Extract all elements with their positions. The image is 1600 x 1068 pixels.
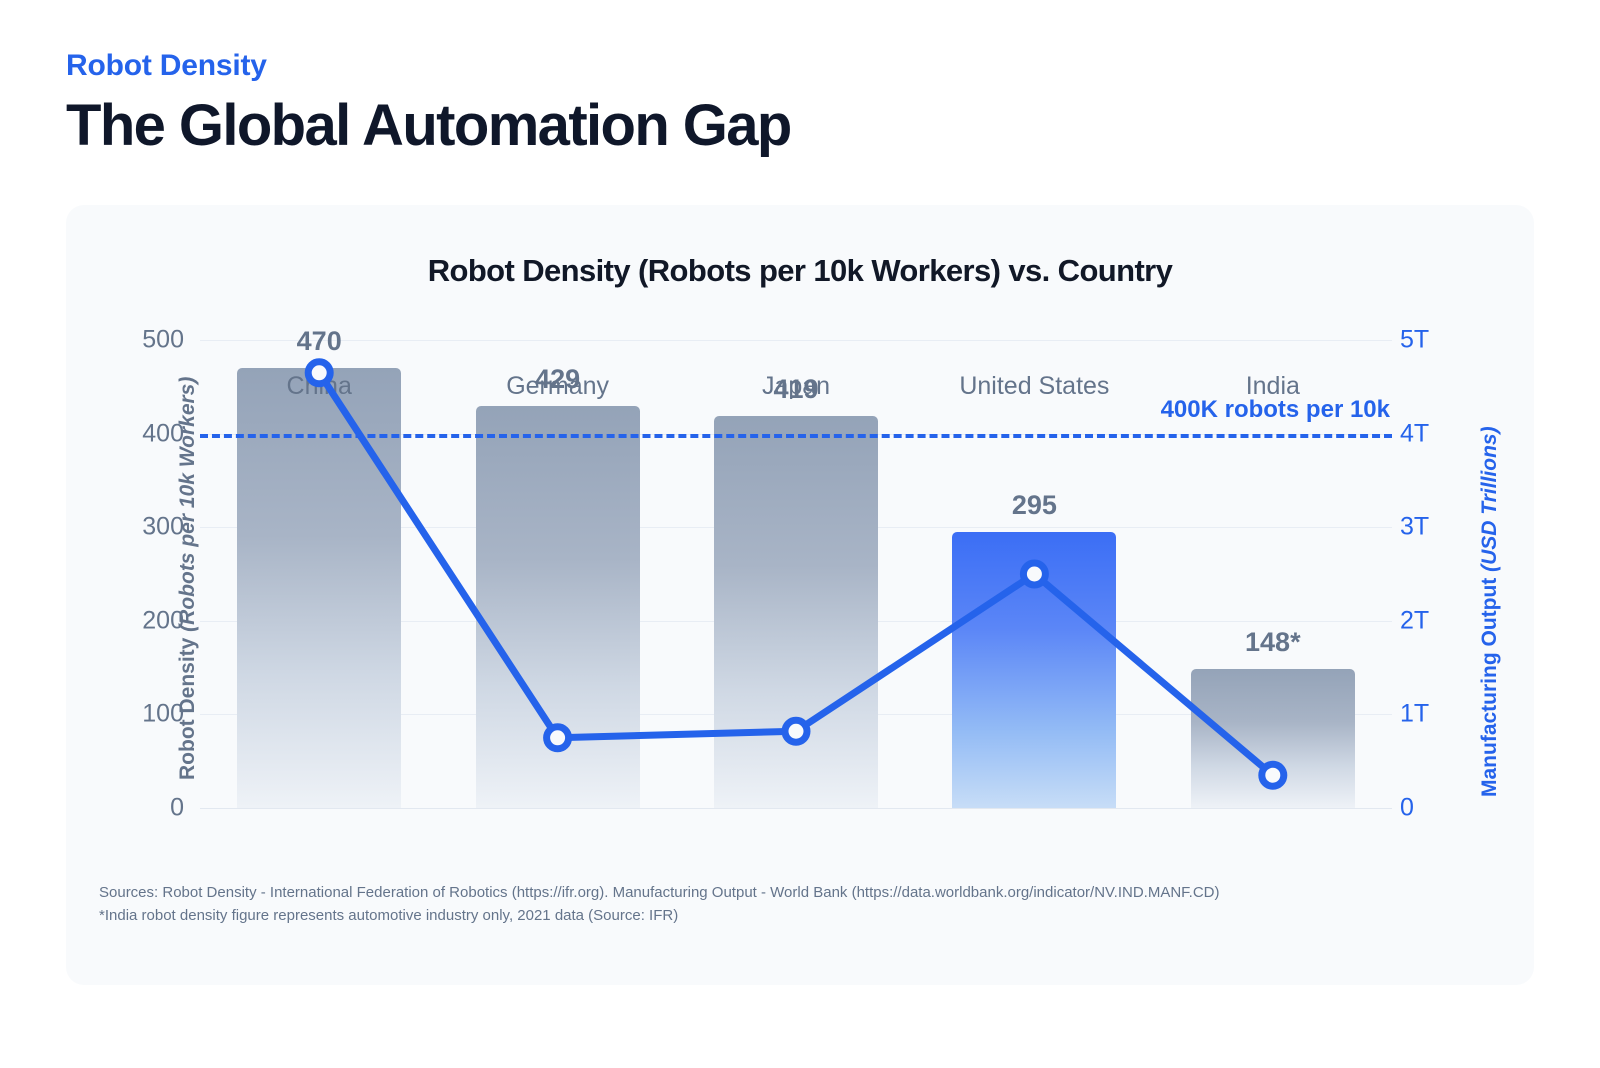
sources-line-1: Sources: Robot Density - International F… bbox=[99, 881, 1220, 904]
sources-line-2: *India robot density figure represents a… bbox=[99, 904, 1220, 927]
y-axis-right-tick: 2T bbox=[1400, 606, 1470, 635]
plot-wrapper: Robot Density (Robots per 10k Workers) M… bbox=[66, 205, 1534, 985]
line-marker-germany[interactable] bbox=[547, 727, 569, 749]
sources-footnote: Sources: Robot Density - International F… bbox=[99, 881, 1220, 928]
right-axis-title-italic: (USD Trillions) bbox=[1478, 426, 1501, 571]
line-marker-china[interactable] bbox=[308, 362, 330, 384]
y-axis-left-tick: 300 bbox=[114, 513, 184, 542]
chart-card: Robot Density (Robots per 10k Workers) v… bbox=[66, 205, 1534, 985]
page-header: Robot Density The Global Automation Gap bbox=[66, 48, 791, 159]
page-title: The Global Automation Gap bbox=[66, 94, 791, 159]
plot-area: 50040030020010005T4T3T2T1T0470China429Ge… bbox=[200, 340, 1392, 808]
y-axis-right-tick: 5T bbox=[1400, 326, 1470, 355]
y-axis-left-tick: 400 bbox=[114, 419, 184, 448]
y-axis-right-tick: 1T bbox=[1400, 700, 1470, 729]
y-axis-left-tick: 0 bbox=[114, 794, 184, 823]
y-axis-right-tick: 0 bbox=[1400, 794, 1470, 823]
line-marker-india[interactable] bbox=[1262, 764, 1284, 786]
y-axis-right-tick: 4T bbox=[1400, 419, 1470, 448]
y-axis-right-tick: 3T bbox=[1400, 513, 1470, 542]
y-axis-left-tick: 100 bbox=[114, 700, 184, 729]
right-axis-title-main: Manufacturing Output bbox=[1478, 572, 1501, 797]
manufacturing-output-line-series bbox=[200, 340, 1392, 808]
line-marker-japan[interactable] bbox=[785, 720, 807, 742]
y-axis-left-tick: 500 bbox=[114, 326, 184, 355]
y-axis-left-tick: 200 bbox=[114, 606, 184, 635]
line-marker-united-states[interactable] bbox=[1023, 563, 1045, 585]
line-path bbox=[319, 373, 1273, 775]
left-axis-title-italic: (Robots per 10k Workers) bbox=[176, 377, 199, 632]
gridline bbox=[200, 808, 1392, 809]
eyebrow-label: Robot Density bbox=[66, 48, 791, 84]
right-axis-title: Manufacturing Output (USD Trillions) bbox=[1478, 426, 1502, 797]
